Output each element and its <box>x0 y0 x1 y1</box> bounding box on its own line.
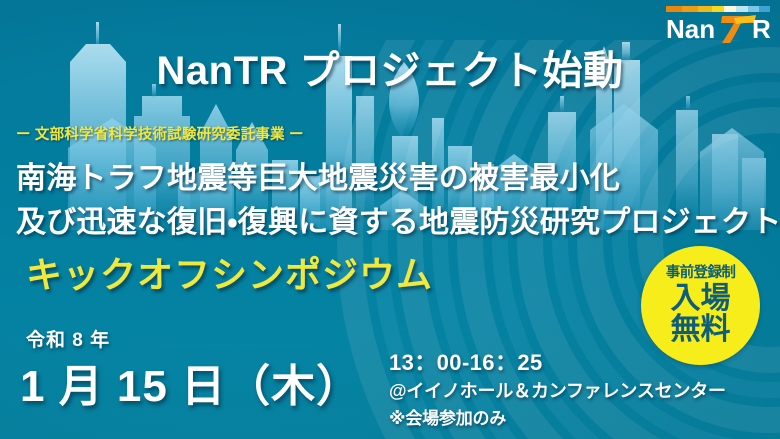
ministry-subtitle: ー 文部科学省科学技術試験研究委託事業 ー <box>16 123 304 144</box>
badge-admission-label: 入場 <box>671 284 731 314</box>
badge-free-label: 無料 <box>671 315 731 345</box>
project-title-line-1: 南海トラフ地震等巨大地震災害の被害最小化 <box>16 153 620 197</box>
free-admission-badge: 事前登録制 入場 無料 <box>641 246 760 365</box>
page-title: NanTR プロジェクト始動 <box>0 38 780 96</box>
project-title-line-2: 及び迅速な復旧・復興に資する地震防災研究プロジェクト <box>16 197 780 241</box>
event-time: 13：00-16：25 <box>389 345 543 377</box>
event-name-kickoff-symposium: キックオフシンポジウム <box>26 246 433 298</box>
event-poster: Nan R NanTR プロジェクト始動 ー 文部科学省科学技術試験研究委託事業… <box>0 0 780 439</box>
event-attendance-note: ※会場参加のみ <box>389 404 506 429</box>
event-venue: @イイノホール＆カンファレンスセンター <box>389 377 726 403</box>
event-era-year: 令和 8 年 <box>26 325 110 352</box>
event-date: 1 月 15 日（木） <box>20 350 361 414</box>
badge-registration-label: 事前登録制 <box>666 266 736 281</box>
